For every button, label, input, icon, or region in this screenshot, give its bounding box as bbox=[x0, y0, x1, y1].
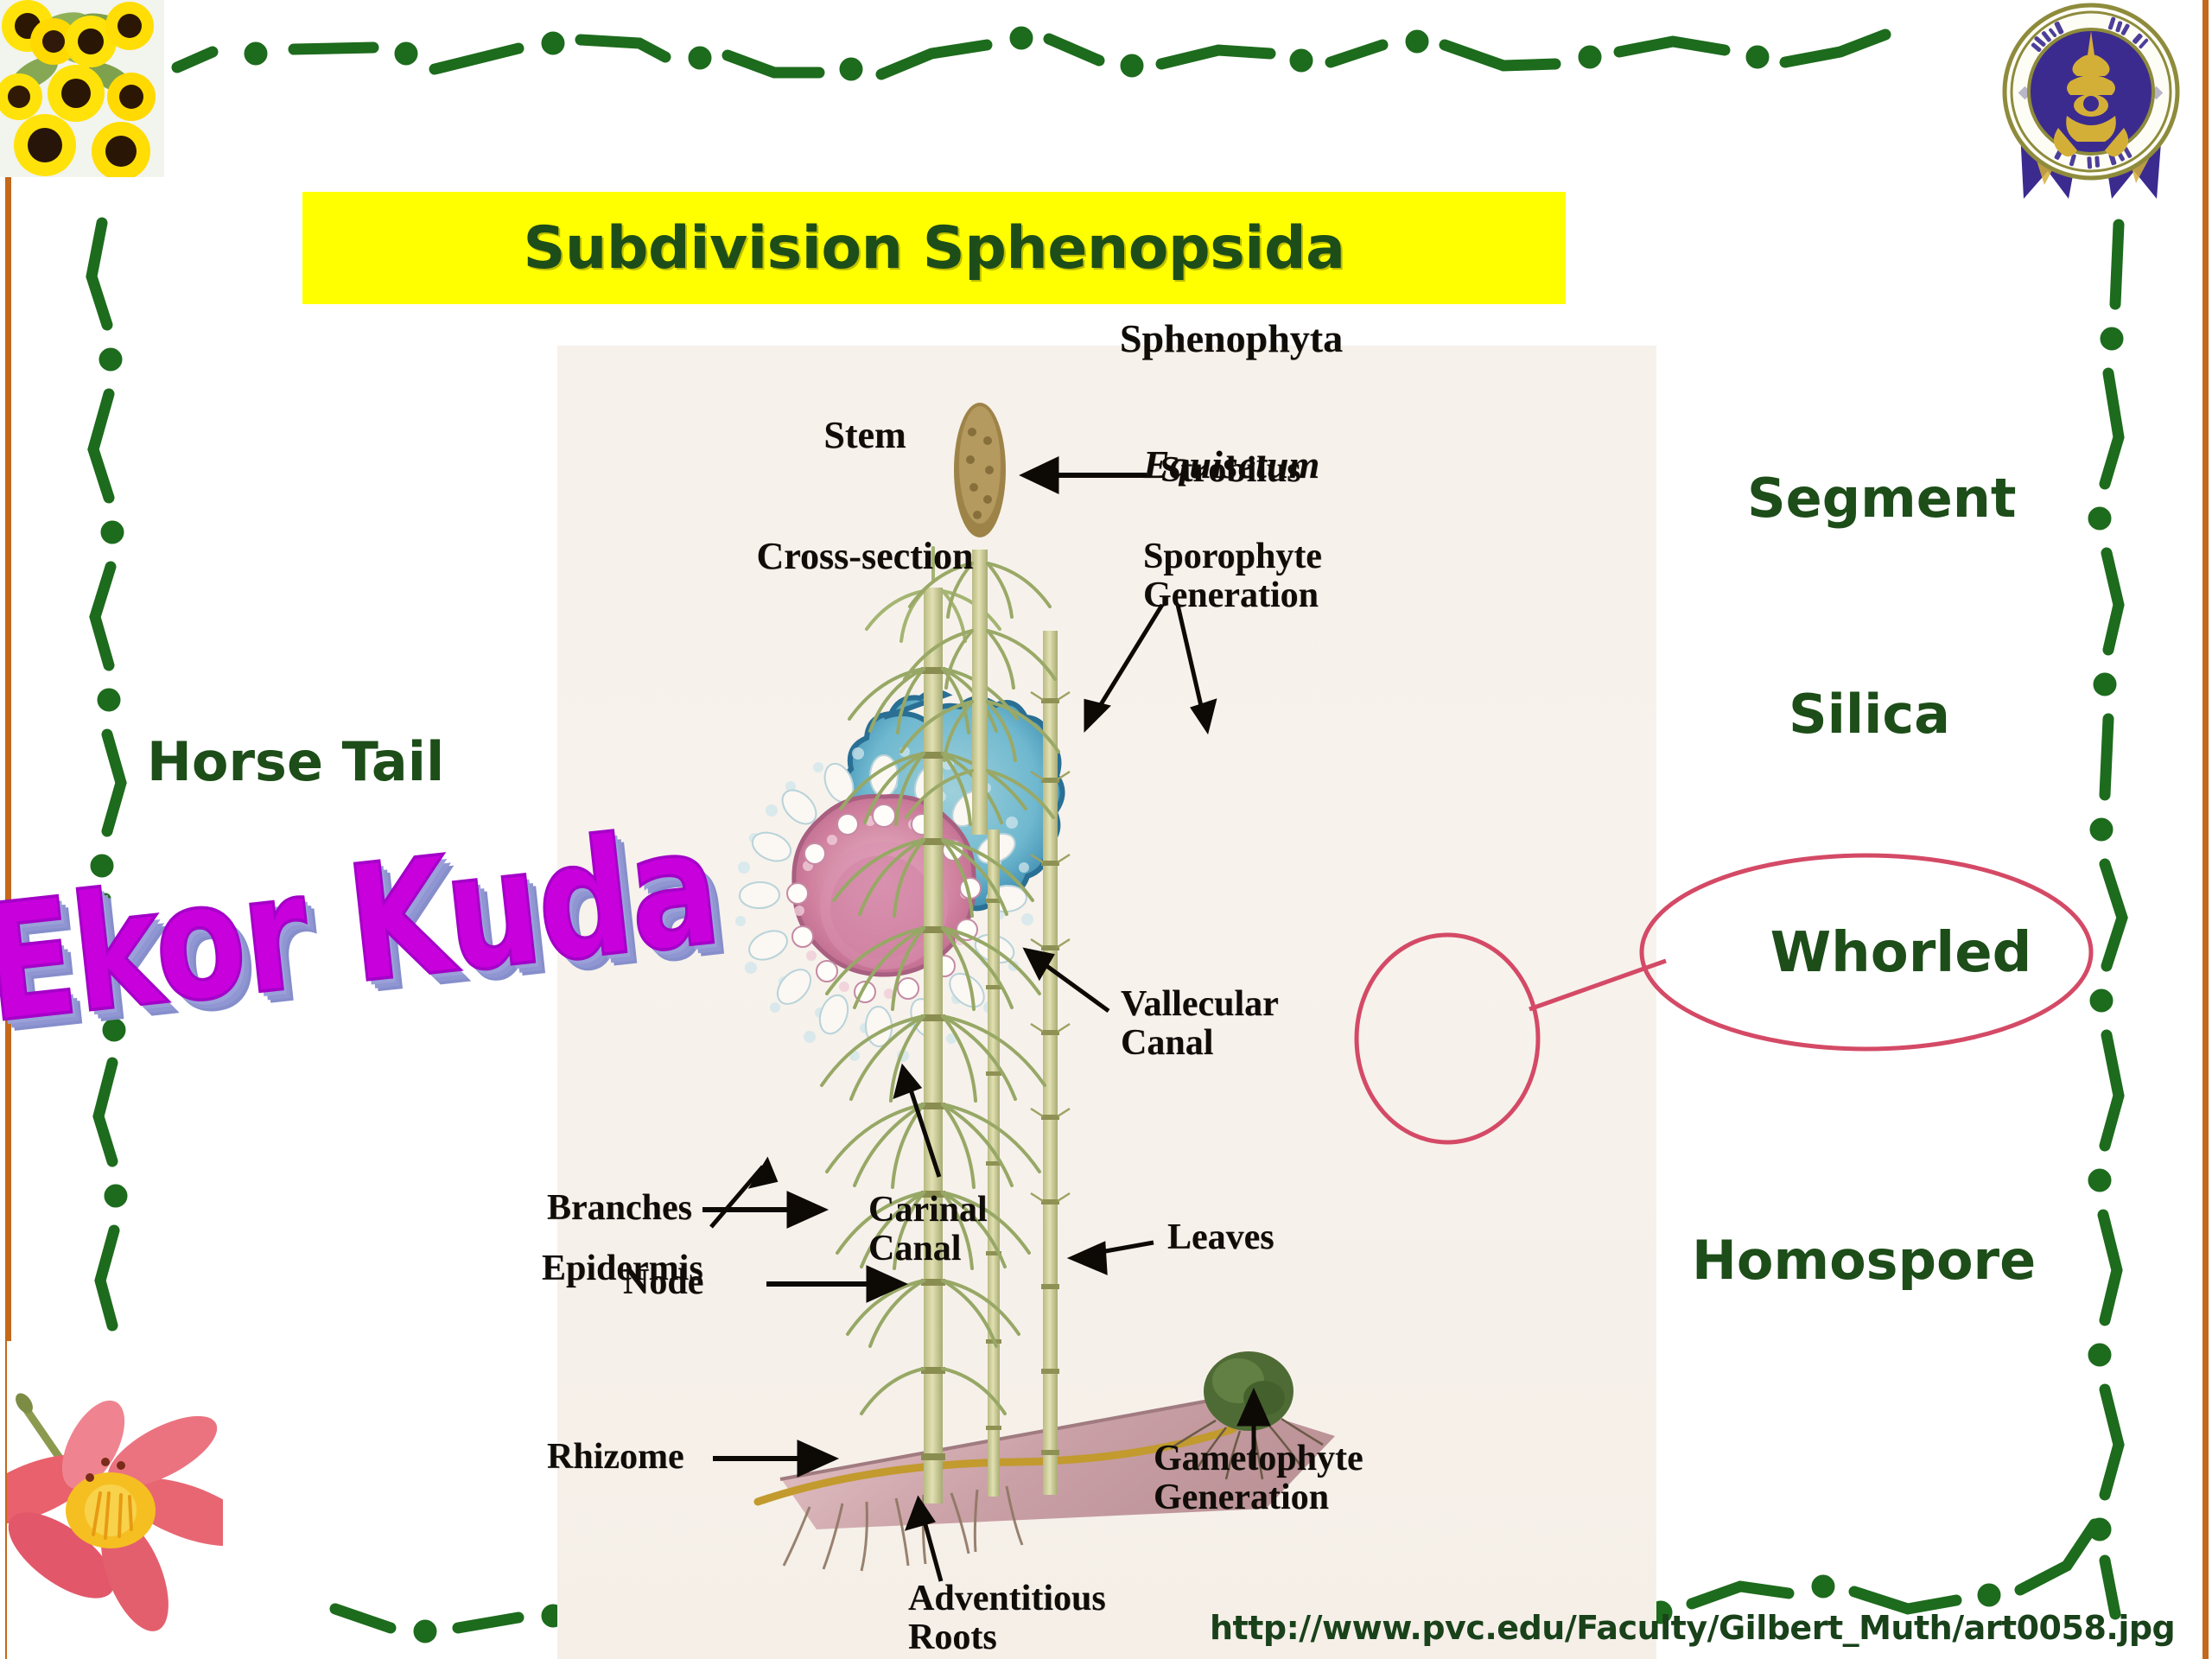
label-adventitious-roots: Adventitious Roots bbox=[908, 1580, 1106, 1656]
frame-rule-right bbox=[2202, 0, 2209, 1659]
keyword-horse-tail: Horse Tail bbox=[147, 730, 444, 793]
label-carinal-canal: Carinal Canal bbox=[868, 1191, 988, 1268]
figure-panel: Stem Cross-section Sphenophyta Equisetum… bbox=[557, 346, 1656, 1659]
label-rhizome: Rhizome bbox=[547, 1438, 684, 1477]
lily-photo bbox=[7, 1341, 223, 1659]
label-branches: Branches bbox=[547, 1189, 692, 1228]
school-crest-icon bbox=[1998, 2, 2183, 200]
label-sporophyte-generation: Sporophyte Generation bbox=[1143, 537, 1322, 614]
keyword-segment: Segment bbox=[1747, 467, 2017, 530]
keyword-whorled: Whorled bbox=[1668, 906, 2134, 1001]
label-leaves: Leaves bbox=[1167, 1218, 1274, 1257]
label-vallecular-canal: Vallecular Canal bbox=[1121, 985, 1279, 1062]
label-node: Node bbox=[623, 1263, 703, 1302]
wordart-ekor-kuda: Ekor Kuda bbox=[0, 793, 722, 1025]
source-url: http://www.pvc.edu/Faculty/Gilbert_Muth/… bbox=[1210, 1609, 2175, 1647]
label-gametophyte-generation: Gametophyte Generation bbox=[1154, 1440, 1363, 1516]
keyword-homospore: Homospore bbox=[1692, 1229, 2036, 1292]
slide-canvas: Subdivision Sphenopsida bbox=[0, 0, 2212, 1659]
figure-heading: Sphenophyta Equisetum bbox=[1007, 233, 1456, 570]
keyword-silica: Silica bbox=[1789, 683, 1950, 746]
label-strobilus: Strobilus bbox=[1160, 451, 1301, 490]
sunflower-photo bbox=[0, 0, 164, 177]
